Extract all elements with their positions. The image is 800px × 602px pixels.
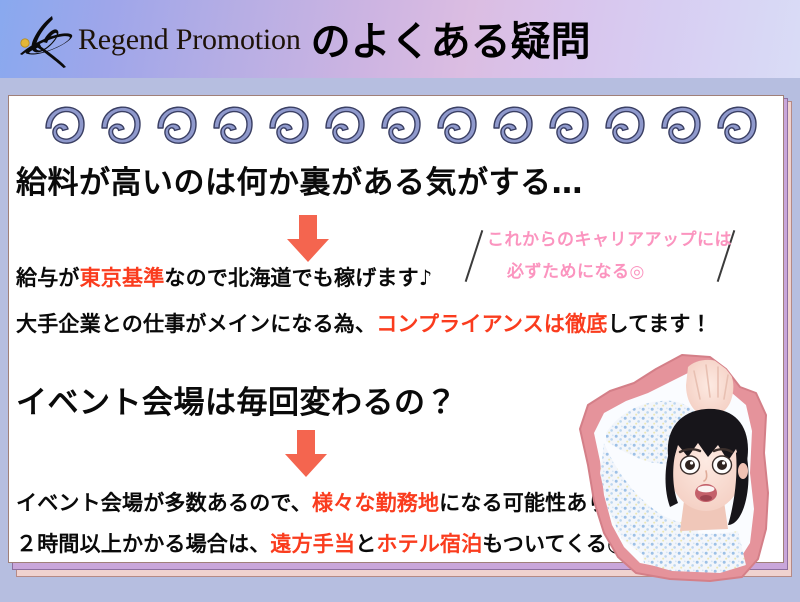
callout-line-1: これからのキャリアアップには	[487, 225, 732, 250]
header-bar: Regend Promotion のよくある疑問	[0, 0, 800, 78]
faq-answer-1-1: 給与が東京基準なので北海道でも稼げます♪	[16, 262, 432, 292]
answer-part: ２時間以上かかる場合は、	[16, 532, 270, 556]
answer-part-highlight: 遠方手当	[270, 532, 355, 556]
pink-callout: これからのキャリアアップには 必ずためになる◎	[463, 223, 763, 293]
faq-answer-1-2: 大手企業との仕事がメインになる為、コンプライアンスは徹底してます！	[16, 308, 712, 338]
down-arrow-icon-1	[286, 215, 330, 263]
callout-line-2: 必ずためになる◎	[507, 257, 645, 282]
answer-part: 大手企業との仕事がメインになる為、	[16, 312, 376, 336]
answer-part: と	[355, 532, 376, 556]
brand-name: Regend Promotion	[78, 23, 301, 57]
answer-part-highlight: ホテル宿泊	[376, 532, 482, 556]
answer-part: イベント会場が多数あるので、	[16, 491, 312, 515]
answer-part: 給与が	[16, 266, 80, 290]
slash-mark-icon-left	[465, 230, 484, 282]
slide-root: Regend Promotion のよくある疑問 給料が高いのは何か裏がある気が…	[0, 0, 800, 602]
faq-question-2: イベント会場は毎回変わるの？	[16, 377, 457, 422]
answer-part: してます！	[608, 312, 712, 336]
page-title: のよくある疑問	[311, 9, 591, 67]
notebook-content: 給料が高いのは何か裏がある気がする… 給与が東京基準なので北海道でも稼げます♪ …	[8, 95, 784, 563]
answer-part-highlight: 東京基準	[80, 266, 165, 290]
faq-answer-2-2: ２時間以上かかる場合は、遠方手当とホテル宿泊もついてくる◎	[16, 528, 626, 558]
regend-comet-logo-icon	[14, 10, 76, 68]
answer-part: なので北海道でも稼げます♪	[164, 266, 432, 290]
faq-answer-2-1: イベント会場が多数あるので、様々な勤務地になる可能性あり	[16, 487, 609, 517]
answer-part: もついてくる◎	[482, 532, 625, 556]
answer-part-highlight: コンプライアンスは徹底	[376, 312, 607, 336]
faq-question-1: 給料が高いのは何か裏がある気がする…	[16, 157, 583, 202]
answer-part-highlight: 様々な勤務地	[312, 491, 439, 515]
answer-part: になる可能性あり	[439, 491, 609, 515]
down-arrow-icon-2	[284, 430, 328, 478]
